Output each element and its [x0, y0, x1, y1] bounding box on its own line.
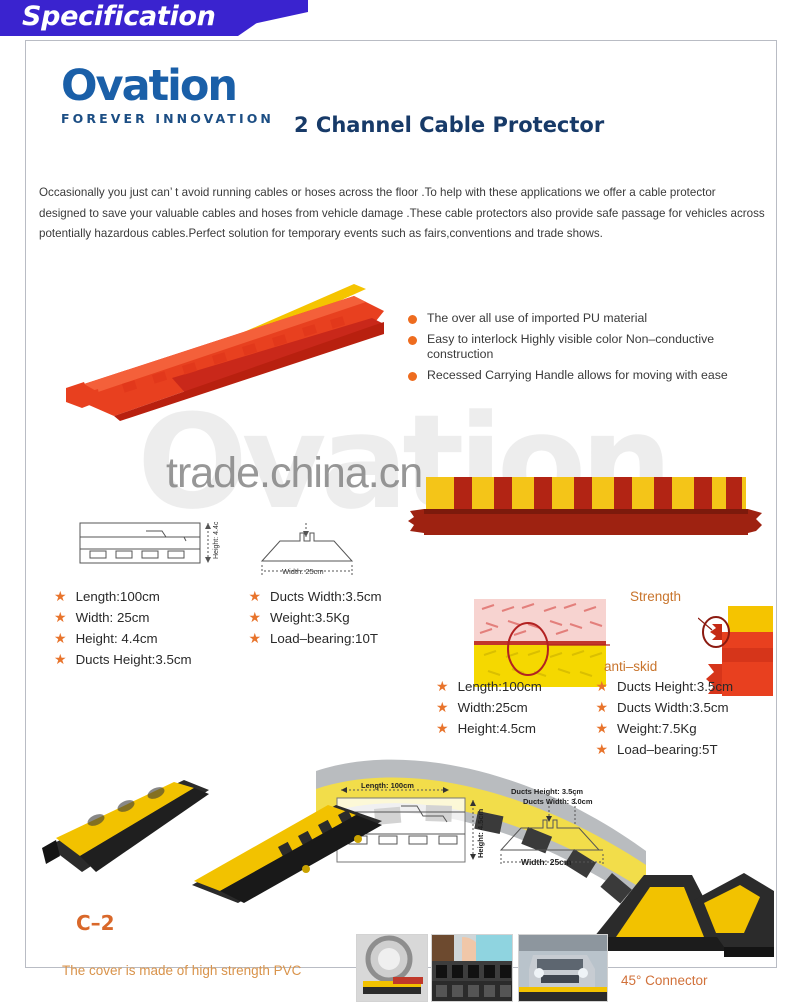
- spec-item: ★ Height: 4.4cm: [54, 631, 244, 646]
- spec-label: Length:100cm: [76, 589, 160, 604]
- drawing-width-label: Width: 25cm: [282, 567, 324, 576]
- spec-item: ★ Length:100cm: [436, 679, 591, 694]
- thumbnail-photo-hand: [431, 934, 513, 1002]
- feature-label: Recessed Carrying Handle allows for movi…: [427, 368, 728, 384]
- drawing-height-label: Height: 4.5cm: [476, 808, 485, 858]
- spec-label: Height: 4.4cm: [76, 631, 158, 646]
- banner-background-tail: [228, 0, 308, 25]
- spec-label: Load–bearing:10T: [270, 631, 378, 646]
- annotation-strength: Strength: [630, 589, 681, 604]
- spec-item: ★ Ducts Height:3.5cm: [54, 652, 244, 667]
- spec-item: ★ Width: 25cm: [54, 610, 244, 625]
- spec-item: ★ Ducts Width:3.5cm: [595, 700, 775, 715]
- product-photo-red-closed: [406, 459, 766, 554]
- cover-material-note: The cover is made of high strength PVC: [62, 963, 301, 978]
- drawing-length-label: Length: 100cm: [361, 781, 414, 790]
- feature-item: The over all use of imported PU material: [408, 311, 763, 327]
- spec-item: ★ Length:100cm: [54, 589, 244, 604]
- product-photo-black-yellow-2: [186, 791, 386, 906]
- star-icon: ★: [248, 589, 261, 603]
- star-icon: ★: [248, 631, 261, 645]
- spec-item: ★ Load–bearing:10T: [248, 631, 413, 646]
- drawing-height-label: Height: 4.4c: [213, 521, 220, 559]
- brand-logo: Ovation FOREVER INNOVATION: [61, 63, 274, 126]
- spec-label: Ducts Width:3.5cm: [270, 589, 382, 604]
- spec-label: Width: 25cm: [76, 610, 150, 625]
- watermark-text: trade.china.cn: [166, 449, 422, 498]
- anti-skid-texture-swatch: [470, 597, 610, 689]
- spec-item: ★ Ducts Height:3.5cm: [595, 679, 775, 694]
- annotation-anti-skid: anti–skid: [604, 659, 657, 674]
- bullet-icon: [408, 315, 417, 324]
- drawing-width-label: Width: 25cm: [521, 857, 572, 867]
- star-icon: ★: [248, 610, 261, 624]
- specification-banner: Specification: [0, 0, 800, 36]
- spec-column-right: ★ Ducts Width:3.5cm ★ Weight:3.5Kg ★ Loa…: [248, 589, 413, 652]
- bullet-icon: [408, 372, 417, 381]
- drawing-ducts-height-label: Ducts Height: 3.5cm: [511, 787, 583, 796]
- star-icon: ★: [54, 589, 67, 603]
- feature-item: Easy to interlock Highly visible color N…: [408, 332, 763, 363]
- page-title: 2 Channel Cable Protector: [294, 113, 604, 137]
- feature-item: Recessed Carrying Handle allows for movi…: [408, 368, 763, 384]
- feature-list: The over all use of imported PU material…: [408, 311, 763, 388]
- product-photo-red-open: [54, 256, 394, 421]
- thumbnail-photo-car: [518, 934, 608, 1002]
- spec-item: ★ Weight:3.5Kg: [248, 610, 413, 625]
- star-icon: ★: [595, 679, 608, 693]
- star-icon: ★: [436, 679, 449, 693]
- product-description: Occasionally you just can’ t avoid runni…: [39, 183, 765, 245]
- product-photo-black-yellow-1: [34, 776, 209, 881]
- spec-label: Weight:3.5Kg: [270, 610, 350, 625]
- spec-item: ★ Ducts Width:3.5cm: [248, 589, 413, 604]
- banner-title: Specification: [22, 1, 216, 32]
- star-icon: ★: [54, 610, 67, 624]
- spec-label: Ducts Height:3.5cm: [76, 652, 192, 667]
- model-label: C–2: [76, 911, 115, 935]
- spec-label: Length:100cm: [458, 679, 542, 694]
- spec-list-red: ★ Length:100cm ★ Width: 25cm ★ Height: 4…: [54, 589, 414, 673]
- connector-label: 45° Connector: [621, 973, 707, 988]
- feature-label: The over all use of imported PU material: [427, 311, 647, 327]
- spec-label: Ducts Height:3.5cm: [617, 679, 733, 694]
- feature-label: Easy to interlock Highly visible color N…: [427, 332, 763, 363]
- spec-column-left: ★ Length:100cm ★ Width: 25cm ★ Height: 4…: [54, 589, 244, 673]
- star-icon: ★: [436, 700, 449, 714]
- star-icon: ★: [595, 700, 608, 714]
- spec-label: Ducts Width:3.5cm: [617, 700, 729, 715]
- drawing-ducts-width-label: Ducts Width: 3.0cm: [523, 797, 593, 806]
- specification-content-frame: Ovation FOREVER INNOVATION 2 Channel Cab…: [25, 40, 777, 968]
- brand-tagline: FOREVER INNOVATION: [61, 111, 274, 126]
- spec-label: Width:25cm: [458, 700, 528, 715]
- star-icon: ★: [54, 652, 67, 666]
- technical-drawing-top: Height: 4.4c Width: 25cm: [66, 493, 406, 588]
- thumbnail-photo-wheel: [356, 934, 428, 1002]
- brand-name: Ovation: [61, 63, 274, 109]
- star-icon: ★: [54, 631, 67, 645]
- spec-item: ★ Width:25cm: [436, 700, 591, 715]
- bullet-icon: [408, 336, 417, 345]
